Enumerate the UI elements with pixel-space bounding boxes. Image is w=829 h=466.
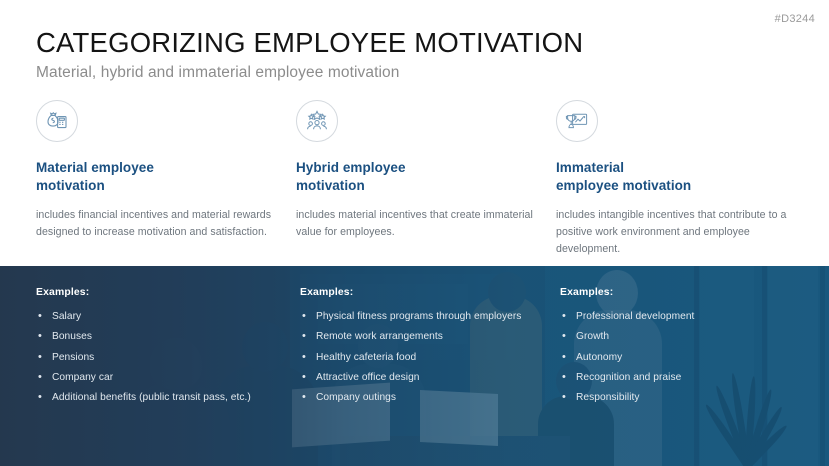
list-item: Healthy cafeteria food xyxy=(300,352,550,365)
examples-panel: Examples: Salary Bonuses Pensions Compan… xyxy=(0,266,829,466)
category-heading: Material employee motivation xyxy=(36,159,286,195)
category-heading: Hybrid employee motivation xyxy=(296,159,546,195)
list-item: Attractive office design xyxy=(300,372,550,385)
examples-list: Physical fitness programs through employ… xyxy=(300,311,550,405)
page-subtitle: Material, hybrid and immaterial employee… xyxy=(36,64,399,82)
list-item: Company outings xyxy=(300,392,550,405)
list-item: Company car xyxy=(36,372,288,385)
page-title: CATEGORIZING EMPLOYEE MOTIVATION xyxy=(36,27,583,59)
category-heading-line1: Hybrid employee xyxy=(296,160,406,175)
examples-column-immaterial: Examples: Professional development Growt… xyxy=(560,287,810,412)
examples-list: Salary Bonuses Pensions Company car Addi… xyxy=(36,311,288,405)
category-heading-line1: Immaterial xyxy=(556,160,624,175)
document-id: #D3244 xyxy=(775,13,815,25)
category-column-material: Material employee motivation includes fi… xyxy=(36,100,286,241)
examples-label: Examples: xyxy=(300,287,550,298)
examples-column-material: Examples: Salary Bonuses Pensions Compan… xyxy=(36,287,288,412)
list-item: Growth xyxy=(560,331,810,344)
examples-column-hybrid: Examples: Physical fitness programs thro… xyxy=(300,287,550,412)
examples-list: Professional development Growth Autonomy… xyxy=(560,311,810,405)
category-heading-line2: motivation xyxy=(296,178,365,193)
category-description: includes material incentives that create… xyxy=(296,207,546,241)
category-description: includes intangible incentives that cont… xyxy=(556,207,816,258)
examples-label: Examples: xyxy=(36,287,288,298)
list-item: Additional benefits (public transit pass… xyxy=(36,392,288,405)
category-description: includes financial incentives and materi… xyxy=(36,207,286,241)
list-item: Salary xyxy=(36,311,288,324)
team-stars-icon xyxy=(296,100,338,142)
examples-columns: Examples: Salary Bonuses Pensions Compan… xyxy=(0,266,829,466)
list-item: Autonomy xyxy=(560,352,810,365)
list-item: Recognition and praise xyxy=(560,372,810,385)
category-column-hybrid: Hybrid employee motivation includes mate… xyxy=(296,100,546,241)
category-heading: Immaterial employee motivation xyxy=(556,159,816,195)
list-item: Professional development xyxy=(560,311,810,324)
category-heading-line2: employee motivation xyxy=(556,178,691,193)
category-heading-line1: Material employee xyxy=(36,160,154,175)
list-item: Remote work arrangements xyxy=(300,331,550,344)
list-item: Pensions xyxy=(36,352,288,365)
list-item: Responsibility xyxy=(560,392,810,405)
examples-label: Examples: xyxy=(560,287,810,298)
slide: #D3244 CATEGORIZING EMPLOYEE MOTIVATION … xyxy=(0,0,829,466)
list-item: Physical fitness programs through employ… xyxy=(300,311,550,324)
category-column-immaterial: Immaterial employee motivation includes … xyxy=(556,100,816,258)
list-item: Bonuses xyxy=(36,331,288,344)
category-heading-line2: motivation xyxy=(36,178,105,193)
trophy-presentation-chart-icon xyxy=(556,100,598,142)
money-bag-calculator-icon xyxy=(36,100,78,142)
